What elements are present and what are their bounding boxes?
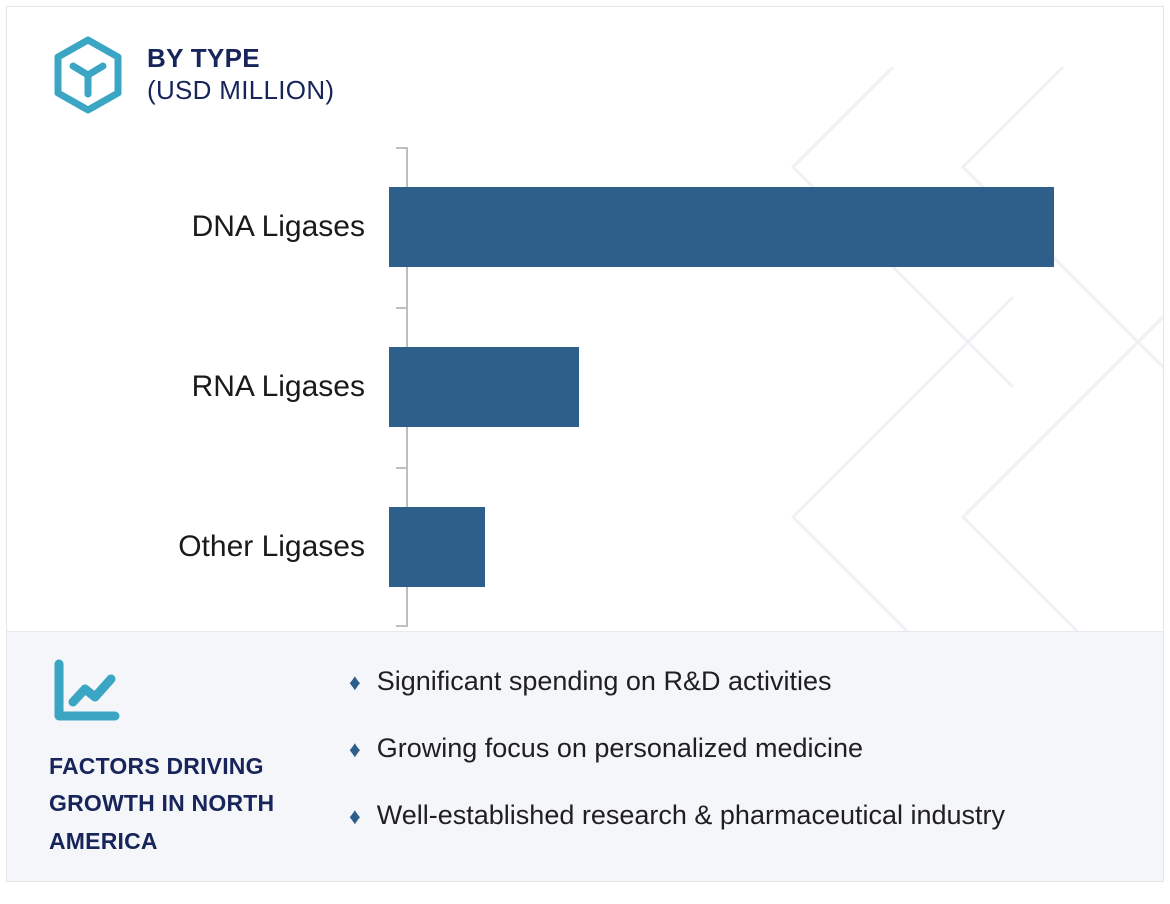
bar-dna-ligases <box>389 187 1054 267</box>
header-text-block: BY TYPE (USD MILLION) <box>147 33 334 106</box>
factor-text-1: Significant spending on R&D activities <box>377 668 832 695</box>
bar-track-other-ligases <box>387 467 1164 627</box>
line-chart-icon <box>49 658 121 726</box>
factors-panel-heading: FACTORS DRIVING GROWTH IN NORTH AMERICA <box>49 748 337 860</box>
page-subtitle: (USD MILLION) <box>147 75 334 107</box>
factor-text-3: Well-established research & pharmaceutic… <box>377 802 1005 829</box>
bar-rna-ligases <box>389 347 579 427</box>
bar-row-other-ligases: Other Ligases <box>7 467 1164 627</box>
page-title: BY TYPE <box>147 43 334 75</box>
diamond-bullet-icon: ♦ <box>349 671 361 694</box>
bar-row-dna-ligases: DNA Ligases <box>7 147 1164 307</box>
hexagon-y-icon <box>51 36 125 114</box>
bar-other-ligases <box>389 507 485 587</box>
diamond-bullet-icon: ♦ <box>349 738 361 761</box>
bar-row-rna-ligases: RNA Ligases <box>7 307 1164 467</box>
category-label-rna-ligases: RNA Ligases <box>7 372 387 402</box>
bar-rows: DNA Ligases RNA Ligases Other Ligases <box>7 147 1164 627</box>
category-label-dna-ligases: DNA Ligases <box>7 212 387 242</box>
factors-panel-left: FACTORS DRIVING GROWTH IN NORTH AMERICA <box>7 632 337 882</box>
bar-track-dna-ligases <box>387 147 1164 307</box>
list-item: ♦ Well-established research & pharmaceut… <box>349 802 1145 869</box>
bar-track-rna-ligases <box>387 307 1164 467</box>
infographic-card: BY TYPE (USD MILLION) DNA Ligases RNA Li… <box>6 6 1164 882</box>
factor-text-2: Growing focus on personalized medicine <box>377 735 863 762</box>
diamond-bullet-icon: ♦ <box>349 805 361 828</box>
factors-panel: FACTORS DRIVING GROWTH IN NORTH AMERICA … <box>7 631 1164 882</box>
category-label-other-ligases: Other Ligases <box>7 532 387 562</box>
list-item: ♦ Growing focus on personalized medicine <box>349 735 1145 802</box>
bar-chart: DNA Ligases RNA Ligases Other Ligases <box>7 139 1164 631</box>
factors-list: ♦ Significant spending on R&D activities… <box>337 632 1164 882</box>
list-item: ♦ Significant spending on R&D activities <box>349 668 1145 735</box>
chart-header: BY TYPE (USD MILLION) <box>51 33 334 114</box>
